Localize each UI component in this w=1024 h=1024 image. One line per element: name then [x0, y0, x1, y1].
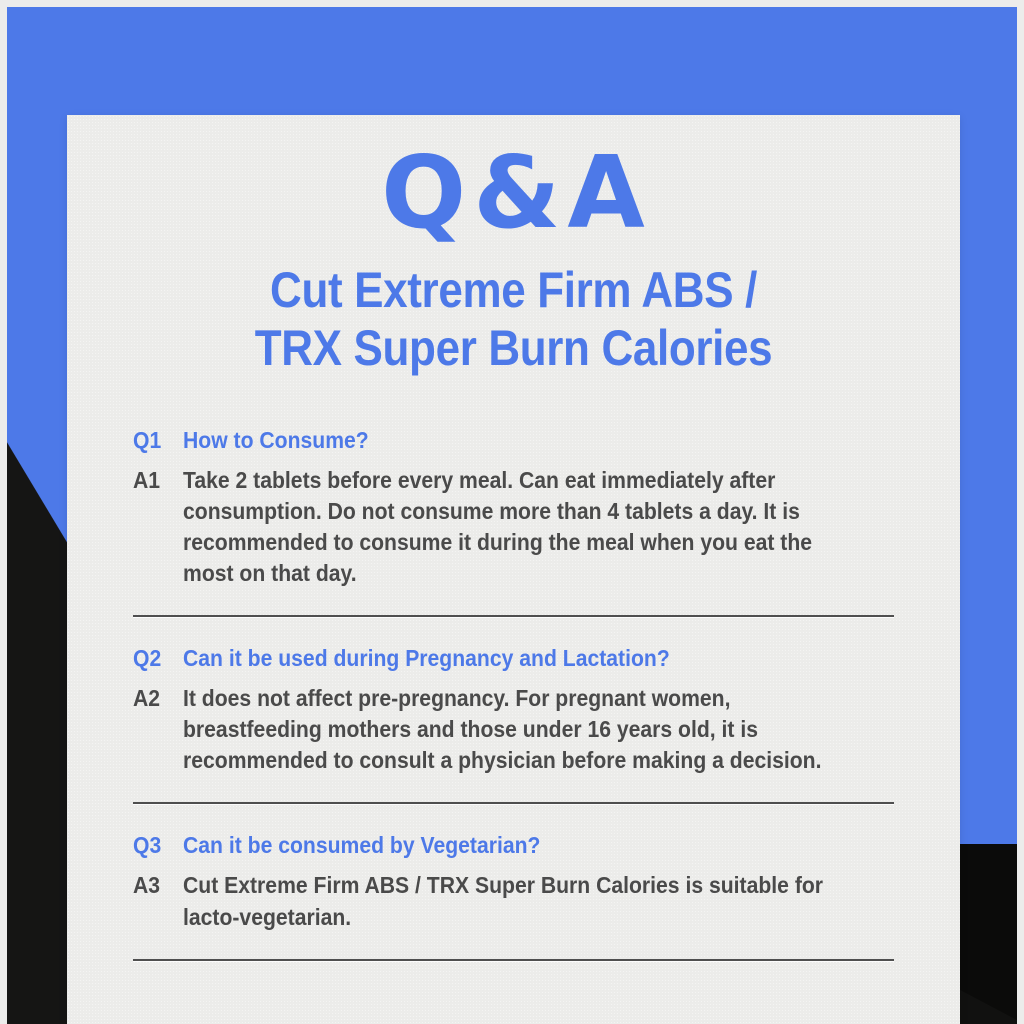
canvas-edge-top — [0, 0, 1024, 7]
answer-row-3: A3 Cut Extreme Firm ABS / TRX Super Burn… — [133, 870, 894, 932]
page-title: Q&A — [133, 115, 894, 243]
canvas-edge-right — [1017, 0, 1024, 1024]
divider-3 — [133, 959, 894, 961]
answer-text-1: Take 2 tablets before every meal. Can ea… — [183, 465, 837, 589]
question-tag-3: Q3 — [133, 830, 179, 861]
question-tag-1: Q1 — [133, 425, 179, 456]
divider-2 — [133, 802, 894, 804]
product-subtitle: Cut Extreme Firm ABS / TRX Super Burn Ca… — [179, 261, 849, 377]
qa-card: Q&A Cut Extreme Firm ABS / TRX Super Bur… — [67, 115, 960, 1024]
infographic-canvas: Q&A Cut Extreme Firm ABS / TRX Super Bur… — [0, 0, 1024, 1024]
divider-1 — [133, 615, 894, 617]
title-letter-a: A — [567, 134, 645, 251]
qa-list: Q1 How to Consume? A1 Take 2 tablets bef… — [133, 425, 894, 961]
answer-row-2: A2 It does not affect pre-pregnancy. For… — [133, 683, 894, 776]
answer-text-3: Cut Extreme Firm ABS / TRX Super Burn Ca… — [183, 870, 837, 932]
question-tag-2: Q2 — [133, 643, 179, 674]
answer-tag-3: A3 — [133, 870, 179, 901]
question-row-2: Q2 Can it be used during Pregnancy and L… — [133, 643, 894, 674]
answer-tag-2: A2 — [133, 683, 179, 714]
qa-item-3: Q3 Can it be consumed by Vegetarian? A3 … — [133, 830, 894, 932]
question-text-1: How to Consume? — [183, 425, 837, 456]
question-text-3: Can it be consumed by Vegetarian? — [183, 830, 837, 861]
title-letter-q: Q — [381, 134, 467, 251]
answer-row-1: A1 Take 2 tablets before every meal. Can… — [133, 465, 894, 589]
qa-item-2: Q2 Can it be used during Pregnancy and L… — [133, 643, 894, 776]
answer-tag-1: A1 — [133, 465, 179, 496]
question-text-2: Can it be used during Pregnancy and Lact… — [183, 643, 837, 674]
canvas-edge-left — [0, 0, 7, 1024]
question-row-3: Q3 Can it be consumed by Vegetarian? — [133, 830, 894, 861]
question-row-1: Q1 How to Consume? — [133, 425, 894, 456]
answer-text-2: It does not affect pre-pregnancy. For pr… — [183, 683, 837, 776]
qa-item-1: Q1 How to Consume? A1 Take 2 tablets bef… — [133, 425, 894, 589]
title-ampersand: & — [467, 134, 567, 251]
